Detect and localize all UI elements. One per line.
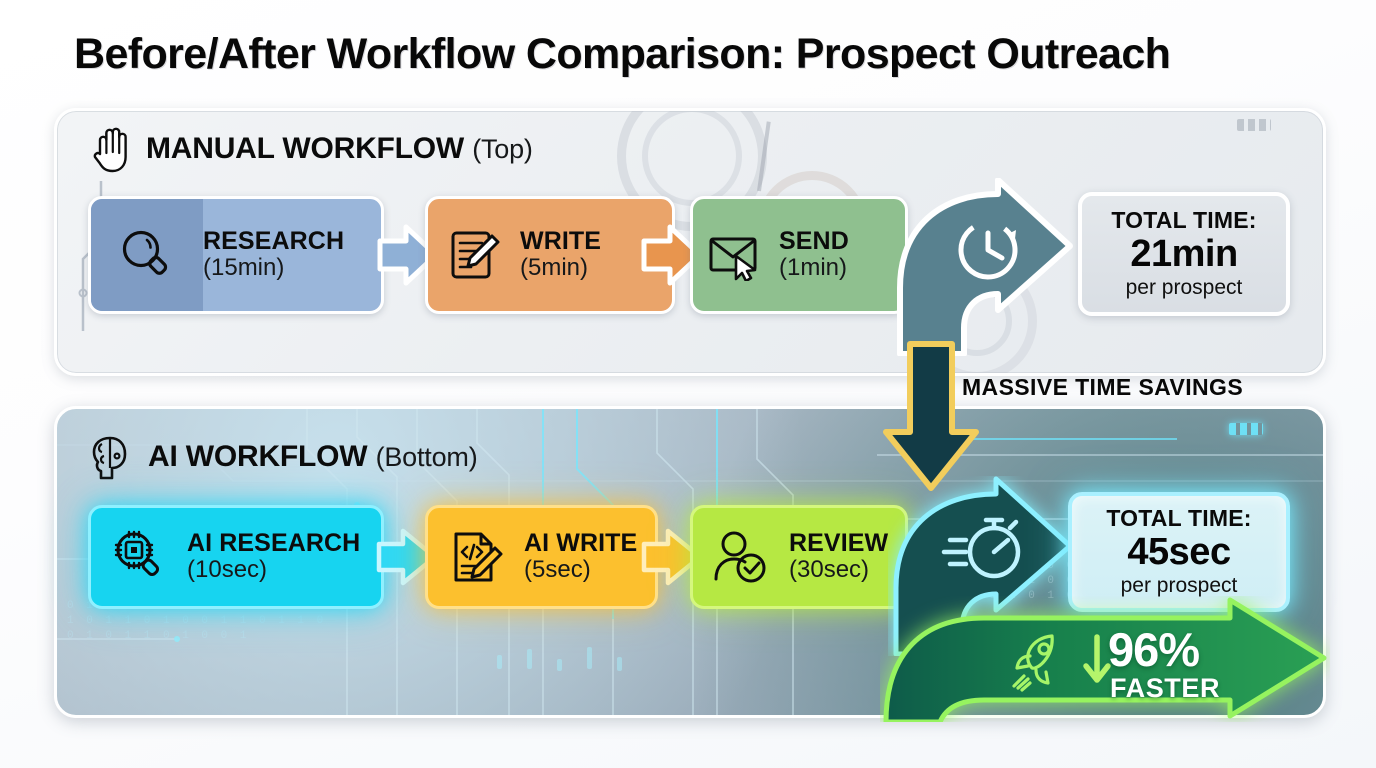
- faster-text-group: 96% FASTER: [1108, 626, 1220, 702]
- faster-word: FASTER: [1110, 675, 1220, 702]
- step-ai-research-label: AI RESEARCH (10sec): [187, 530, 381, 584]
- manual-total-time-box: TOTAL TIME: 21min per prospect: [1078, 192, 1290, 316]
- user-check-icon: [693, 529, 789, 585]
- envelope-cursor-icon: [693, 229, 779, 281]
- savings-label: MASSIVE TIME SAVINGS: [962, 374, 1243, 401]
- infographic-canvas: Before/After Workflow Comparison: Prospe…: [0, 0, 1376, 768]
- step-ai-write[interactable]: AI WRITE (5sec): [425, 505, 658, 609]
- ai-heading-suffix: (Bottom): [376, 442, 478, 472]
- step-research-duration: (15min): [203, 254, 373, 282]
- chip-magnifier-icon: [91, 526, 187, 588]
- faster-percent: 96%: [1108, 626, 1199, 673]
- brain-head-icon: [88, 432, 136, 482]
- manual-heading-text: MANUAL WORKFLOW: [146, 132, 464, 165]
- step-research[interactable]: RESEARCH (15min): [88, 196, 384, 314]
- magnifier-icon: [91, 199, 203, 311]
- ai-workflow-header: AI WORKFLOW (Bottom): [88, 432, 477, 482]
- document-pencil-icon: [428, 226, 520, 284]
- ai-total-time-box: TOTAL TIME: 45sec per prospect: [1068, 492, 1290, 612]
- step-ai-write-duration: (5sec): [524, 556, 647, 584]
- step-ai-research[interactable]: AI RESEARCH (10sec): [88, 505, 384, 609]
- step-send-duration: (1min): [779, 254, 897, 282]
- step-review-duration: (30sec): [789, 556, 897, 584]
- step-ai-write-name: AI WRITE: [524, 530, 647, 556]
- step-ai-write-label: AI WRITE (5sec): [524, 530, 655, 584]
- ai-total-caption: TOTAL TIME:: [1106, 506, 1251, 531]
- hand-icon: [88, 124, 134, 174]
- ai-workflow-title: AI WORKFLOW (Bottom): [148, 440, 477, 474]
- chip-marker-icon: [1229, 423, 1263, 435]
- manual-workflow-header: MANUAL WORKFLOW (Top): [88, 124, 533, 174]
- step-research-label: RESEARCH (15min): [203, 228, 381, 282]
- step-review[interactable]: REVIEW (30sec): [690, 505, 908, 609]
- down-arrow-icon: [878, 338, 984, 494]
- manual-summary-arrow: [892, 178, 1088, 356]
- step-send[interactable]: SEND (1min): [690, 196, 908, 314]
- step-research-name: RESEARCH: [203, 228, 373, 254]
- step-review-name: REVIEW: [789, 530, 897, 556]
- rocket-icon: [1008, 630, 1074, 692]
- code-document-pencil-icon: [428, 528, 524, 586]
- step-ai-research-duration: (10sec): [187, 556, 373, 584]
- ai-total-unit: per prospect: [1121, 574, 1238, 598]
- manual-total-unit: per prospect: [1126, 276, 1243, 300]
- ai-heading-text: AI WORKFLOW: [148, 440, 367, 473]
- step-send-label: SEND (1min): [779, 228, 905, 282]
- manual-workflow-title: MANUAL WORKFLOW (Top): [146, 132, 533, 166]
- step-write[interactable]: WRITE (5min): [425, 196, 675, 314]
- manual-total-value: 21min: [1130, 233, 1237, 276]
- step-ai-research-name: AI RESEARCH: [187, 530, 373, 556]
- ai-total-value: 45sec: [1127, 531, 1230, 574]
- chip-marker-icon: [1237, 119, 1271, 131]
- manual-total-caption: TOTAL TIME:: [1111, 208, 1256, 233]
- binary-code-decoration: 0 1 1 0 1 0 0 1 1 0 1 1 0 0 1 0 1 1 0 1 …: [67, 599, 327, 709]
- step-send-name: SEND: [779, 228, 897, 254]
- page-title: Before/After Workflow Comparison: Prospe…: [74, 30, 1170, 79]
- manual-heading-suffix: (Top): [472, 134, 533, 164]
